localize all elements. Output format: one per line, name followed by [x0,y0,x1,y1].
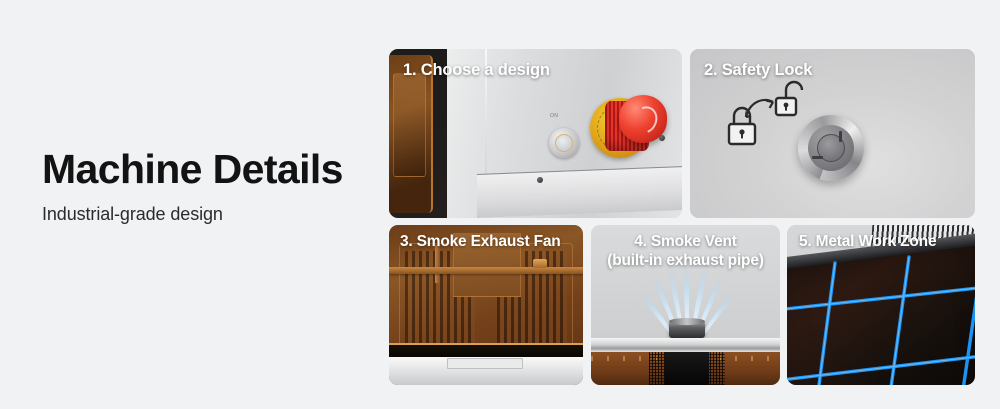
panel-label-5: 5. Metal Work Zone [799,233,936,251]
machine-lower-panel [477,166,682,218]
machine-base-silver-strip [389,357,583,385]
exhaust-pipe [665,352,709,385]
screw-icon [659,135,665,141]
steel-rail [591,338,780,352]
padlock-unlocked-icon [776,82,802,115]
panel-smoke-exhaust-fan[interactable]: 3. Smoke Exhaust Fan [389,225,583,385]
machine-base-dark-strip [389,343,583,357]
panel-smoke-vent[interactable]: 4. Smoke Vent (built-in exhaust pipe) [591,225,780,385]
exhaust-nozzle [669,321,705,338]
gantry-crossbar [389,267,583,274]
key-lock-knob[interactable] [798,115,864,181]
power-button-caption: ON [550,113,558,119]
page-title: Machine Details [42,148,362,191]
cable-clip-icon [533,259,547,268]
header-text-block: Machine Details Industrial-grade design [42,148,362,225]
screw-icon [537,177,543,183]
knob-mid-ring [808,125,854,171]
panel-label-4: 4. Smoke Vent (built-in exhaust pipe) [591,233,780,271]
panel-label-3: 3. Smoke Exhaust Fan [400,233,561,251]
blue-grid-lines [787,241,975,385]
power-button-icon[interactable] [549,128,579,158]
machine-details-page: Machine Details Industrial-grade design … [0,0,1000,409]
knob-indicator-notch-left [812,156,823,159]
panel-label-1: 1. Choose a design [403,61,550,80]
panel-safety-lock[interactable]: 2. Safety Lock [690,49,975,218]
knob-indicator-notch [839,131,842,142]
padlock-locked-icon [729,108,755,144]
page-subtitle: Industrial-grade design [42,204,362,225]
panel-label-2: 2. Safety Lock [704,61,812,80]
vent-mesh-right [707,352,725,385]
panel-metal-work-zone[interactable]: 5. Metal Work Zone [787,225,975,385]
panel-choose-a-design[interactable]: ON 1. Choose a design [389,49,682,218]
